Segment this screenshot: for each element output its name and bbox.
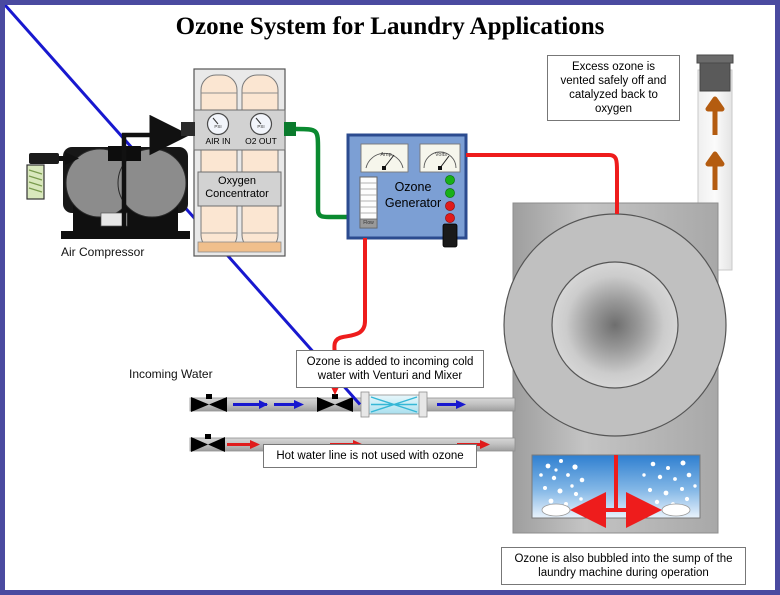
concentrator-inlet-port bbox=[181, 122, 195, 136]
sump bbox=[532, 455, 700, 518]
oxygen-concentrator-label: Oxygen Concentrator bbox=[194, 175, 280, 201]
mixer-icon bbox=[361, 392, 427, 417]
callout-hot-water: Hot water line is not used with ozone bbox=[263, 444, 477, 468]
gauge-air-in-unit: PSI bbox=[198, 124, 238, 129]
gauge-o2-out-label: O2 OUT bbox=[240, 136, 282, 146]
oxygen-line bbox=[296, 129, 349, 217]
callout-vent: Excess ozone is vented safely off and ca… bbox=[547, 55, 680, 121]
incoming-water-label: Incoming Water bbox=[129, 367, 213, 381]
diffuser-stone-left bbox=[542, 504, 570, 516]
flow-gauge-label: Flow bbox=[359, 220, 378, 226]
meter-volts-icon bbox=[420, 144, 460, 172]
meter-amp-label: Amp bbox=[369, 152, 403, 158]
concentrator-outlet-port bbox=[284, 122, 296, 136]
air-compressor-label: Air Compressor bbox=[61, 245, 144, 259]
ozone-generator-label: Ozone Generator bbox=[383, 179, 443, 211]
gauge-air-in-label: AIR IN bbox=[197, 136, 239, 146]
washer-drum-inner bbox=[552, 262, 678, 388]
diffuser-stone-right bbox=[662, 504, 690, 516]
diagram-frame: Ozone System for Laundry Applications bbox=[0, 0, 780, 595]
power-switch bbox=[443, 224, 457, 247]
callout-sump: Ozone is also bubbled into the sump of t… bbox=[501, 547, 746, 585]
oxygen-concentrator bbox=[181, 69, 296, 256]
air-compressor bbox=[27, 135, 190, 239]
callout-venturi: Ozone is added to incoming cold water wi… bbox=[296, 350, 484, 388]
meter-amp-icon bbox=[361, 144, 408, 172]
gauge-o2-out-unit: PSI bbox=[241, 124, 281, 129]
meter-volts-label: Volts bbox=[425, 152, 457, 158]
